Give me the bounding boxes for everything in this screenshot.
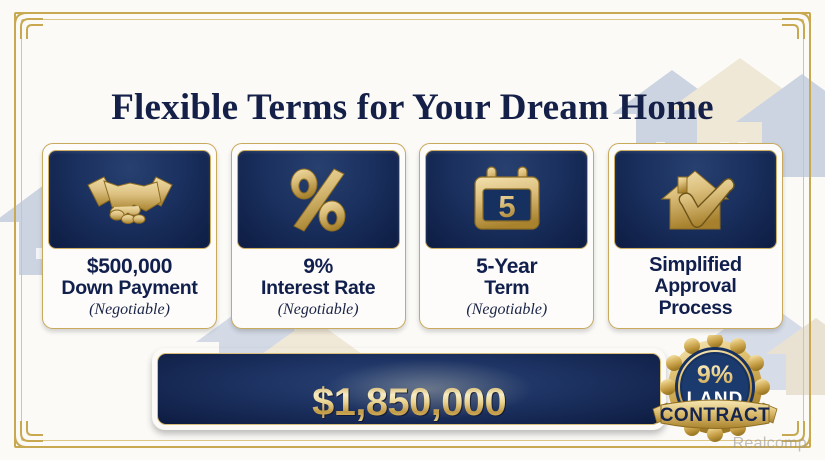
card-label: Interest Rate <box>261 278 375 300</box>
card-text: 9% Interest Rate (Negotiable) <box>232 249 405 328</box>
land-contract-badge: 9% LAND CONTRACT <box>651 335 779 447</box>
card-text: $500,000 Down Payment (Negotiable) <box>43 249 216 328</box>
property-price: $1,850,000 <box>312 383 506 422</box>
badge-ribbon-text: CONTRACT <box>660 405 771 426</box>
card-value: $500,000 <box>87 256 172 278</box>
feature-card-down-payment[interactable]: $500,000 Down Payment (Negotiable) <box>42 143 217 329</box>
price-banner: 6900 Franklin Road, Bloomfield Hills $1,… <box>152 348 666 430</box>
price-banner-inner: 6900 Franklin Road, Bloomfield Hills $1,… <box>157 353 661 425</box>
card-text: 5-Year Term (Negotiable) <box>420 249 593 328</box>
badge-rate-text: 9% <box>697 361 733 389</box>
handshake-icon <box>48 150 211 249</box>
feature-cards: $500,000 Down Payment (Negotiable) <box>42 143 783 327</box>
source-watermark: Realcomp <box>733 435 807 453</box>
percent-icon <box>237 150 400 249</box>
card-label-line-3: Process <box>659 298 733 320</box>
card-text: Simplified Approval Process <box>609 249 782 328</box>
card-label: Down Payment <box>61 278 197 300</box>
card-label: Term <box>484 278 529 300</box>
card-label-line-1: Simplified <box>649 255 742 276</box>
property-address: 6900 Franklin Road, Bloomfield Hills <box>222 356 597 382</box>
page-subtitle: Flexible Terms for Your Dream Home <box>0 86 825 129</box>
feature-card-interest-rate[interactable]: 9% Interest Rate (Negotiable) <box>231 143 406 329</box>
feature-card-approval-process[interactable]: Simplified Approval Process <box>608 143 783 329</box>
card-value: 9% <box>303 256 333 278</box>
feature-card-term[interactable]: 5 5-Year Term (Negotiable) <box>419 143 594 329</box>
calendar-5-icon: 5 <box>425 150 588 249</box>
headline-container: SELLER FINANCING AVAILABLE <box>0 28 825 87</box>
seller-financing-poster: SELLER FINANCING AVAILABLE Flexible Term… <box>0 0 825 460</box>
card-value: 5-Year <box>476 256 537 278</box>
card-note: (Negotiable) <box>89 301 170 319</box>
page-title: SELLER FINANCING AVAILABLE <box>0 28 825 87</box>
card-note: (Negotiable) <box>466 301 547 319</box>
card-label-line-2: Approval <box>654 276 736 298</box>
house-check-icon <box>614 150 777 249</box>
calendar-day-number: 5 <box>498 189 515 224</box>
card-note: (Negotiable) <box>278 301 359 319</box>
